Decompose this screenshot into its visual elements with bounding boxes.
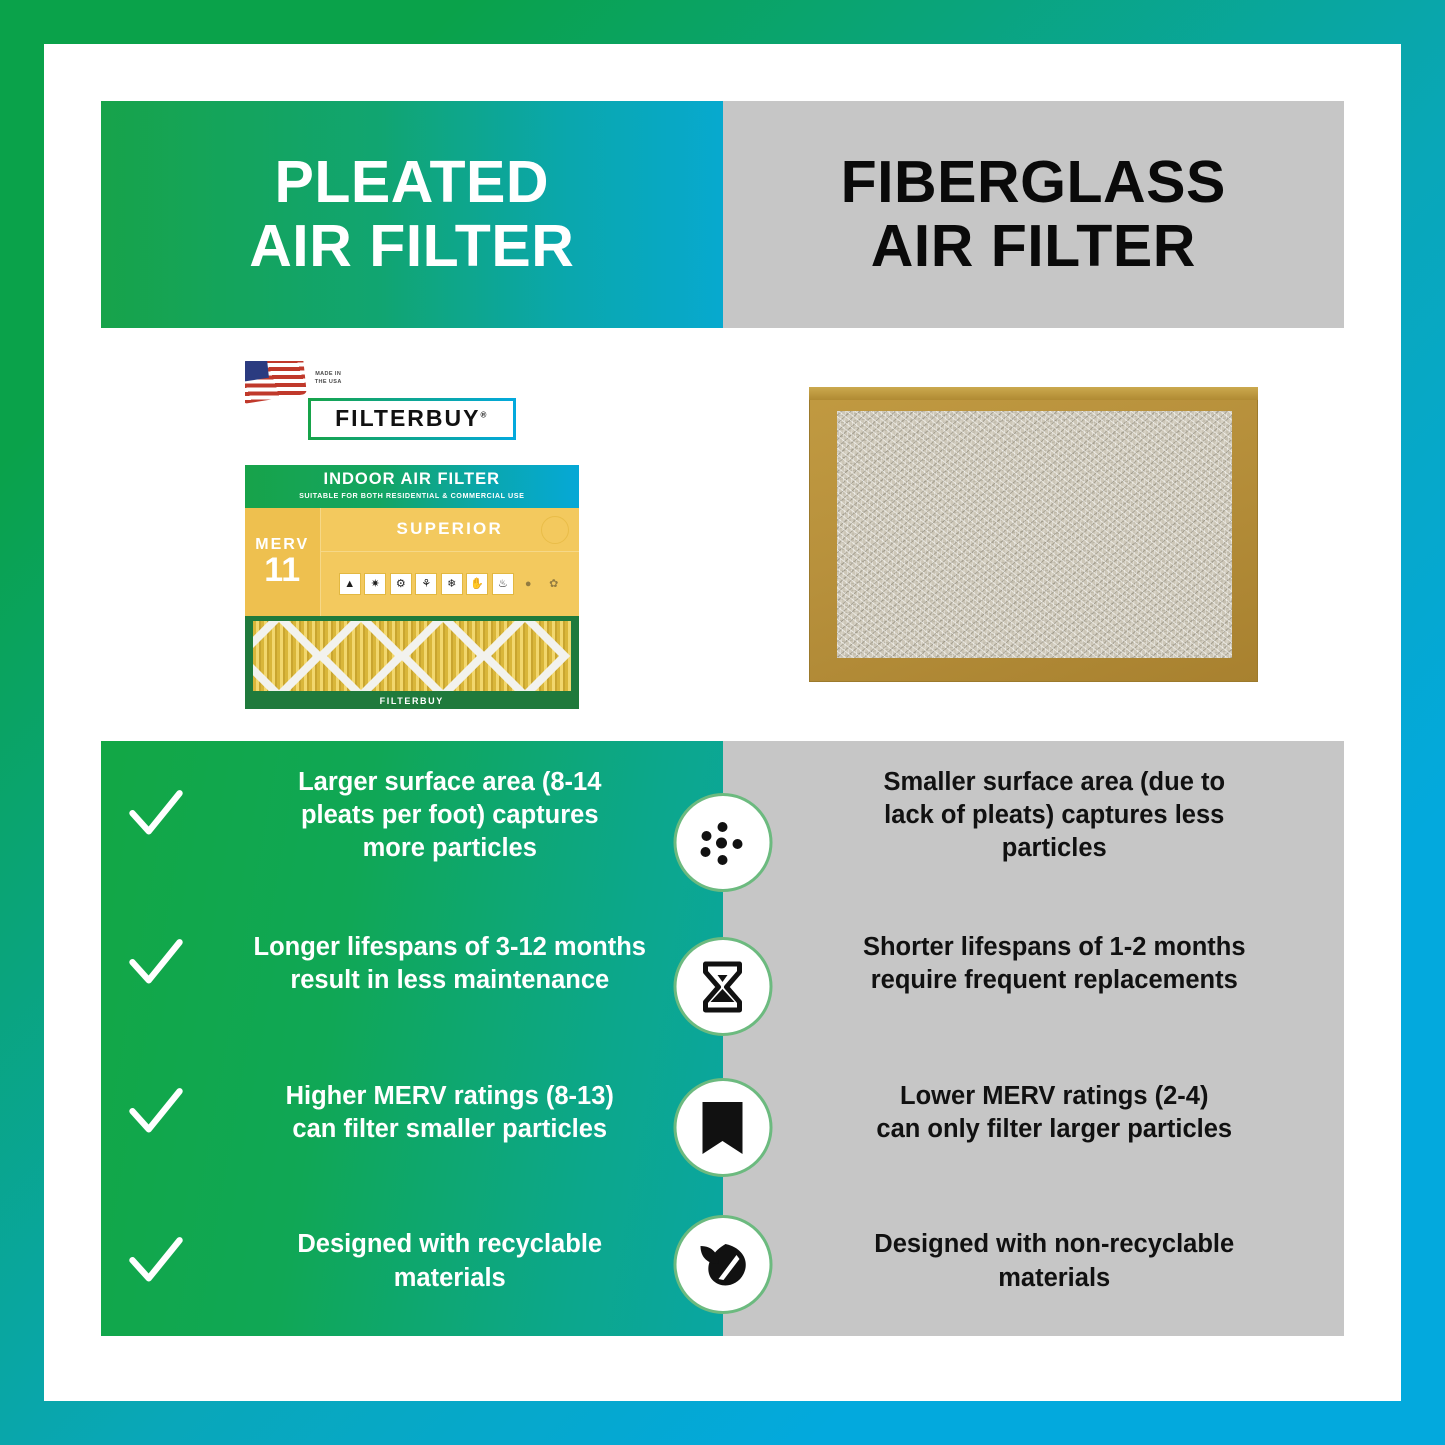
comparison-row-pleated: Longer lifespans of 3-12 months result i… (101, 931, 723, 997)
filterbuy-logo-text: FILTERBUY® (335, 405, 488, 432)
comparison-row-pleated: Larger surface area (8-14 pleats per foo… (101, 766, 723, 865)
mold-icon: ⚙ (390, 573, 412, 595)
comparison-pleated-text: Longer lifespans of 3-12 months result i… (203, 931, 697, 997)
product-image-row: MADE IN THE USA FILTERBUY® INDOOR AIR FI… (101, 328, 1344, 741)
comparison-fiberglass-text: Designed with non-recyclable materials (874, 1228, 1234, 1294)
box-band-title: INDOOR AIR FILTER (245, 470, 579, 489)
dust-icon: ▲ (339, 573, 361, 595)
box-tier-label: SUPERIOR (397, 519, 503, 539)
pleat-media (253, 621, 571, 691)
comparison-row-fiberglass: Designed with non-recyclable materials (723, 1228, 1345, 1294)
comparison-fiberglass-text: Lower MERV ratings (2-4) can only filter… (876, 1080, 1232, 1146)
allergen-icon-faded: ✿ (543, 573, 565, 595)
ul-certification-icon (541, 516, 569, 544)
particle-icon-faded: ● (517, 573, 539, 595)
box-tier-row: SUPERIOR (321, 508, 579, 552)
product-cell-pleated: MADE IN THE USA FILTERBUY® INDOOR AIR FI… (101, 328, 723, 741)
pet-icon: ✋ (466, 573, 488, 595)
box-top-section: MADE IN THE USA FILTERBUY® (245, 361, 579, 465)
pleat-brand-label: FILTERBUY (245, 696, 579, 706)
header-fiberglass: FIBERGLASS AIR FILTER (723, 101, 1345, 328)
smoke-icon: ♨ (492, 573, 514, 595)
medallion-bookmark (673, 1078, 772, 1177)
comparison-pleated-text: Higher MERV ratings (8-13) can filter sm… (203, 1080, 697, 1146)
box-pleat-window: FILTERBUY (245, 616, 579, 709)
bacteria-icon: ⚘ (415, 573, 437, 595)
comparison-pleated-text: Larger surface area (8-14 pleats per foo… (203, 766, 697, 865)
box-merv-right: SUPERIOR ▲ ✷ ⚙ ⚘ ❄ ✋ (321, 508, 579, 616)
hourglass-icon (694, 958, 752, 1016)
bookmark-icon (698, 1099, 748, 1157)
pleated-filter-box-image: MADE IN THE USA FILTERBUY® INDOOR AIR FI… (245, 361, 579, 709)
comparison-fiberglass-text: Shorter lifespans of 1-2 months require … (863, 931, 1246, 997)
header-pleated: PLEATED AIR FILTER (101, 101, 723, 328)
checkmark-icon (127, 1084, 185, 1142)
medallion-hourglass (673, 937, 772, 1036)
comparison-row-pleated: Higher MERV ratings (8-13) can filter sm… (101, 1080, 723, 1146)
fiberglass-media-texture (837, 411, 1232, 658)
filterbuy-logo-frame: FILTERBUY® (308, 398, 516, 440)
support-mesh (253, 621, 571, 691)
comparison-pleated-text: Designed with recyclable materials (203, 1228, 697, 1294)
header-row: PLEATED AIR FILTER FIBERGLASS AIR FILTER (101, 101, 1344, 328)
checkmark-icon (127, 935, 185, 993)
comparison-section: Larger surface area (8-14 pleats per foo… (101, 741, 1344, 1336)
particles-icon (695, 815, 751, 871)
usa-flag-icon (245, 361, 307, 404)
comparison-row-fiberglass: Smaller surface area (due to lack of ple… (723, 766, 1345, 865)
comparison-fiberglass-text: Smaller surface area (due to lack of ple… (883, 766, 1225, 865)
comparison-row-fiberglass: Shorter lifespans of 1-2 months require … (723, 931, 1345, 997)
box-mini-icon-strip: ▲ ✷ ⚙ ⚘ ❄ ✋ ♨ ● ✿ (321, 552, 579, 616)
white-canvas: PLEATED AIR FILTER FIBERGLASS AIR FILTER… (44, 44, 1401, 1401)
merv-badge: MERV 11 (245, 508, 321, 616)
box-band-subtitle: SUITABLE FOR BOTH RESIDENTIAL & COMMERCI… (245, 491, 579, 500)
checkmark-icon (127, 1233, 185, 1291)
comparison-infographic: PLEATED AIR FILTER FIBERGLASS AIR FILTER… (101, 101, 1344, 1344)
merv-value: 11 (264, 554, 300, 586)
made-in-usa-label: MADE IN THE USA (315, 370, 342, 387)
pollen-icon: ✷ (364, 573, 386, 595)
comparison-row-pleated: Designed with recyclable materials (101, 1228, 723, 1294)
header-pleated-title: PLEATED AIR FILTER (249, 151, 574, 277)
box-color-band: INDOOR AIR FILTER SUITABLE FOR BOTH RESI… (245, 465, 579, 508)
medallion-particles (673, 793, 772, 892)
product-cell-fiberglass (723, 328, 1345, 741)
leaf-icon (693, 1236, 753, 1294)
comparison-row-fiberglass: Lower MERV ratings (2-4) can only filter… (723, 1080, 1345, 1146)
header-fiberglass-title: FIBERGLASS AIR FILTER (841, 151, 1226, 277)
dander-icon: ❄ (441, 573, 463, 595)
fiberglass-filter-image (809, 387, 1258, 682)
box-merv-section: MERV 11 SUPERIOR ▲ ✷ (245, 508, 579, 616)
outer-gradient-frame: PLEATED AIR FILTER FIBERGLASS AIR FILTER… (0, 0, 1445, 1445)
checkmark-icon (127, 786, 185, 844)
medallion-leaf (673, 1215, 772, 1314)
